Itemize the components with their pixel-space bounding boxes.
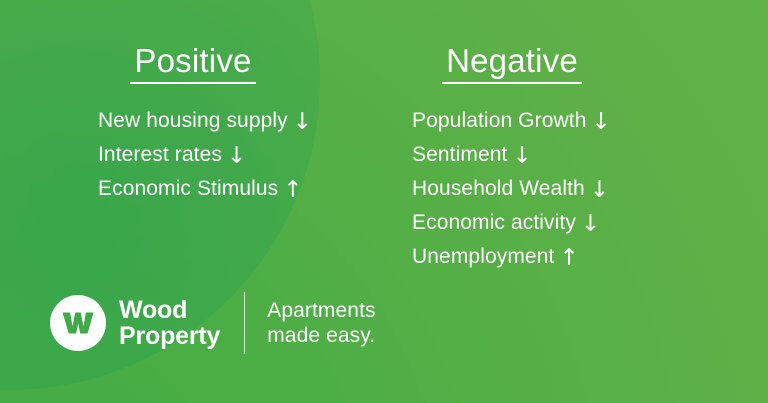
logo-tagline-line-2: made easy. [267, 323, 375, 348]
column-positive-heading: Positive [130, 44, 255, 84]
logo-divider [244, 292, 245, 354]
list-item-label: Sentiment [412, 143, 507, 166]
arrow-up-icon: ↑ [559, 247, 578, 270]
list-item: Population Growth↓ [412, 104, 732, 138]
list-item-label: Unemployment [412, 245, 554, 268]
list-item-label: Economic Stimulus [98, 177, 278, 200]
list-item-label: New housing supply [98, 109, 288, 132]
list-item: Interest rates↓ [98, 138, 398, 172]
list-item: Economic activity↓ [412, 206, 732, 240]
list-item: New housing supply↓ [98, 104, 398, 138]
logo-tagline-line-1: Apartments [267, 298, 375, 323]
column-negative: Negative Population Growth↓ Sentiment↓ H… [412, 44, 732, 274]
arrow-down-icon: ↓ [512, 145, 531, 168]
column-positive-list: New housing supply↓ Interest rates↓ Econ… [98, 104, 398, 206]
list-item-label: Household Wealth [412, 177, 585, 200]
slide-canvas: Positive New housing supply↓ Interest ra… [0, 0, 768, 403]
list-item: Unemployment↑ [412, 240, 732, 274]
column-negative-list: Population Growth↓ Sentiment↓ Household … [412, 104, 732, 274]
logo-tagline: Apartments made easy. [267, 298, 375, 348]
list-item-label: Interest rates [98, 143, 222, 166]
list-item-label: Economic activity [412, 211, 576, 234]
arrow-down-icon: ↓ [227, 145, 246, 168]
column-negative-heading: Negative [442, 44, 582, 84]
arrow-up-icon: ↑ [283, 179, 302, 202]
arrow-down-icon: ↓ [591, 111, 610, 134]
logo-wordmark: Wood Property [119, 297, 220, 349]
arrow-down-icon: ↓ [590, 179, 609, 202]
column-negative-heading-row: Negative [412, 44, 612, 84]
list-item-label: Population Growth [412, 109, 586, 132]
wood-property-logo-icon [50, 295, 106, 351]
logo-name-line-2: Property [119, 323, 220, 349]
list-item: Sentiment↓ [412, 138, 732, 172]
arrow-down-icon: ↓ [581, 213, 600, 236]
logo-lockup: Wood Property Apartments made easy. [50, 292, 376, 354]
arrow-down-icon: ↓ [293, 111, 312, 134]
column-positive: Positive New housing supply↓ Interest ra… [98, 44, 398, 206]
slide-content: Positive New housing supply↓ Interest ra… [0, 0, 768, 403]
column-positive-heading-row: Positive [98, 44, 288, 84]
list-item: Economic Stimulus↑ [98, 172, 398, 206]
list-item: Household Wealth↓ [412, 172, 732, 206]
logo-name-line-1: Wood [119, 297, 220, 323]
